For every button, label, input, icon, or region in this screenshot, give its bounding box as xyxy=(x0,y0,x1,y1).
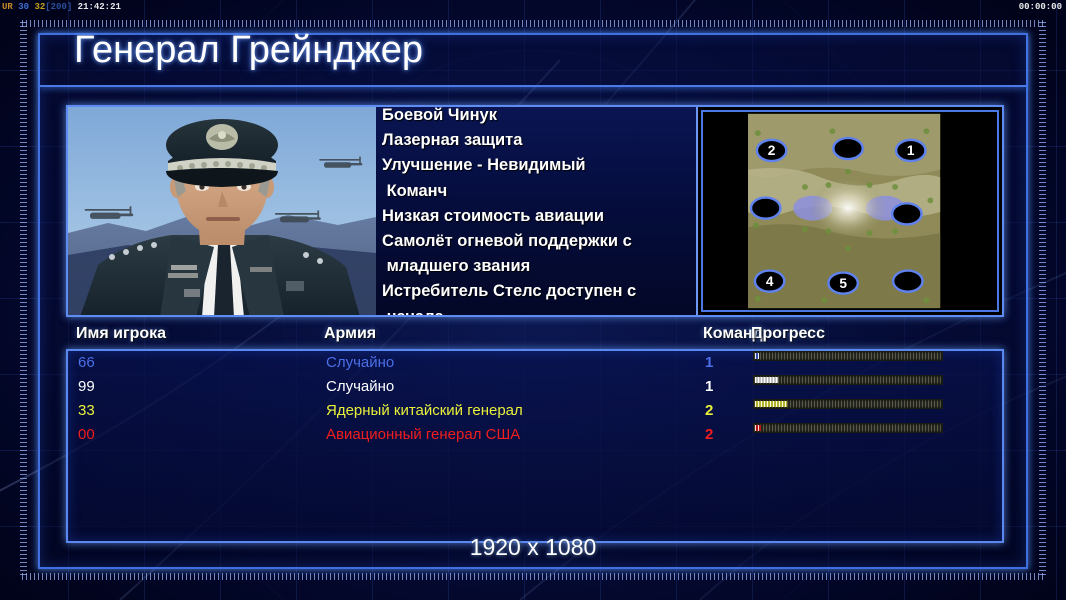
description-line: Команч xyxy=(382,179,692,204)
start-position-1: 1 xyxy=(896,140,925,161)
progress-bar-fill xyxy=(755,401,787,407)
player-progress-bar xyxy=(753,423,943,433)
start-position-5: 5 xyxy=(828,273,857,294)
player-team[interactable]: 1 xyxy=(705,351,713,375)
table-row[interactable]: 99Случайно1 xyxy=(68,375,1002,399)
description-line: Низкая стоимость авиации xyxy=(382,204,692,229)
player-name: 00 xyxy=(78,423,95,447)
start-position-bottom-right xyxy=(893,271,922,292)
general-description: Боевой ЧинукЛазерная защитаУлучшение - Н… xyxy=(376,107,696,315)
player-name: 66 xyxy=(78,351,95,375)
fps-label-30: 30 xyxy=(18,2,29,12)
description-line: Улучшение - Невидимый xyxy=(382,153,692,178)
start-position-2: 2 xyxy=(757,140,786,161)
description-line: младшего звания xyxy=(382,254,692,279)
table-row[interactable]: 66Случайно1 xyxy=(68,351,1002,375)
progress-bar-fill xyxy=(755,425,761,431)
description-line: Самолёт огневой поддержки с xyxy=(382,229,692,254)
general-portrait xyxy=(68,107,376,315)
player-progress-bar xyxy=(753,375,943,385)
column-header-player-name: Имя игрока xyxy=(76,325,166,343)
fps-label-ur: UR xyxy=(2,2,13,12)
description-line: Истребитель Стелс доступен с xyxy=(382,279,692,304)
player-name: 33 xyxy=(78,399,95,423)
player-progress-bar xyxy=(753,351,943,361)
player-table[interactable]: 66Случайно199Случайно133Ядерный китайски… xyxy=(66,349,1004,543)
player-name: 99 xyxy=(78,375,95,399)
progress-bar-track xyxy=(753,399,943,409)
ruler-right-tickmarks xyxy=(1039,22,1046,578)
ruler-left-tickmarks xyxy=(20,22,27,578)
column-header-progress: Прогресс xyxy=(751,325,825,343)
player-army[interactable]: Ядерный китайский генерал xyxy=(326,399,523,423)
description-line: начала xyxy=(382,305,692,315)
fps-label-200: [200] xyxy=(45,2,72,12)
progress-bar-track xyxy=(753,423,943,433)
svg-text:1: 1 xyxy=(907,143,915,158)
page-title: Генерал Грейнджер xyxy=(74,29,423,72)
start-position-top-center xyxy=(833,138,862,159)
general-description-lines: Боевой ЧинукЛазерная защитаУлучшение - Н… xyxy=(382,107,692,315)
player-table-header: Имя игрока Армия Команд Прогресс xyxy=(66,325,1004,349)
fps-clock: 21:42:21 xyxy=(78,2,121,12)
progress-bar-fill xyxy=(755,353,759,359)
player-progress-bar xyxy=(753,399,943,409)
player-army[interactable]: Авиационный генерал США xyxy=(326,423,520,447)
svg-text:2: 2 xyxy=(768,143,776,158)
start-position-4: 4 xyxy=(755,271,784,292)
ruler-top-tickmarks xyxy=(22,20,1044,27)
ruler-bottom-tickmarks xyxy=(22,573,1044,580)
progress-bar-fill xyxy=(755,377,778,383)
main-panel: Генерал Грейнджер xyxy=(38,33,1028,569)
map-start-positions: 2 1 4 5 xyxy=(703,112,997,310)
player-team[interactable]: 2 xyxy=(705,399,713,423)
description-line: Лазерная защита xyxy=(382,128,692,153)
progress-bar-track xyxy=(753,375,943,385)
player-army[interactable]: Случайно xyxy=(326,375,394,399)
progress-bar-track xyxy=(753,351,943,361)
general-info-row: Боевой ЧинукЛазерная защитаУлучшение - Н… xyxy=(66,105,1004,317)
map-preview: 2 1 4 5 xyxy=(696,107,1002,315)
description-line: Боевой Чинук xyxy=(382,107,692,128)
player-army[interactable]: Случайно xyxy=(326,351,394,375)
fps-counter: UR 30 32[200] 21:42:21 xyxy=(2,0,121,15)
player-team[interactable]: 1 xyxy=(705,375,713,399)
title-bar: Генерал Грейнджер xyxy=(40,35,1026,87)
fps-label-32: 32 xyxy=(34,2,45,12)
resolution-label: 1920 x 1080 xyxy=(40,534,1026,561)
general-portrait-image xyxy=(68,107,376,315)
start-position-mid-right xyxy=(892,203,921,224)
table-row[interactable]: 00Авиационный генерал США2 xyxy=(68,423,1002,447)
player-team[interactable]: 2 xyxy=(705,423,713,447)
table-row[interactable]: 33Ядерный китайский генерал2 xyxy=(68,399,1002,423)
game-clock: 00:00:00 xyxy=(1019,0,1062,15)
top-status-bar: UR 30 32[200] 21:42:21 00:00:00 xyxy=(0,0,1066,15)
svg-text:4: 4 xyxy=(766,274,774,289)
svg-text:5: 5 xyxy=(839,276,847,291)
start-position-mid-left xyxy=(751,198,780,219)
map-preview-image: 2 1 4 5 xyxy=(701,110,999,312)
column-header-army: Армия xyxy=(324,325,376,343)
